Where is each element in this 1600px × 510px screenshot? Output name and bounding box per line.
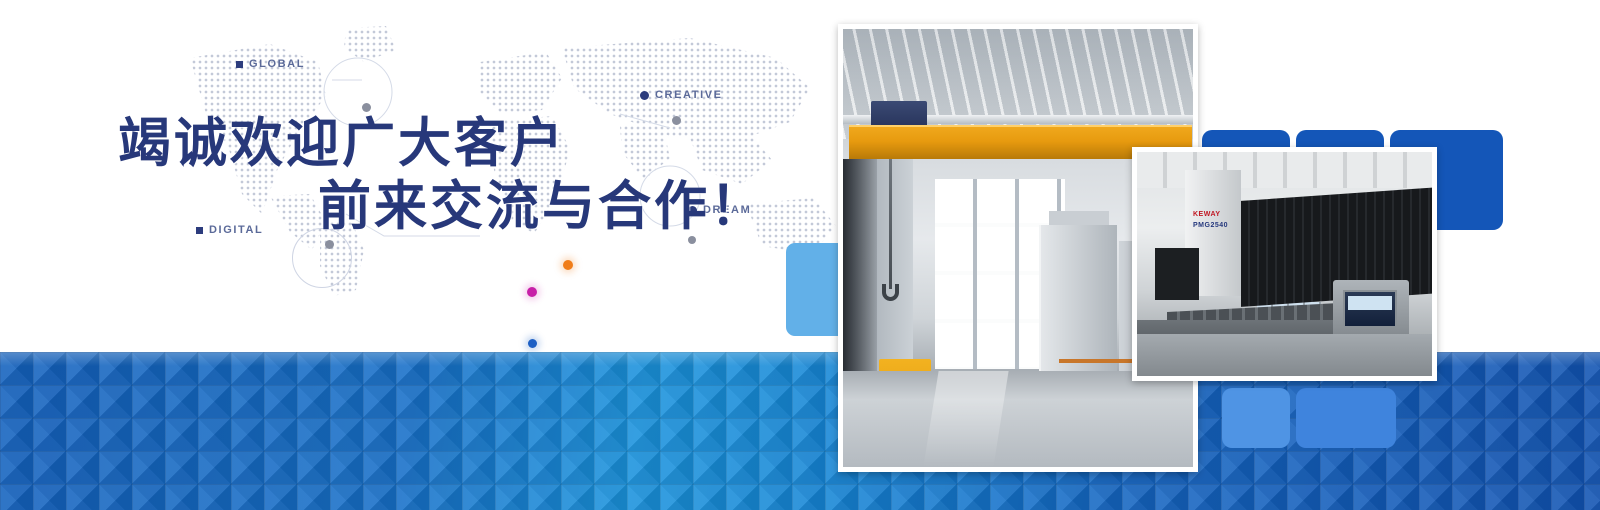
map-node-dot xyxy=(362,103,371,112)
banner-headline: 竭诚欢迎广大客户 前来交流与合作！ xyxy=(118,112,818,237)
promotional-banner: GLOBAL CREATIVE DIGITAL DREAM 竭诚欢迎广大客户 前… xyxy=(0,0,1600,510)
cnc-machine-photo-image: KEWAY PMG2540 xyxy=(1137,152,1432,376)
orange-accent-dot-icon xyxy=(563,260,573,270)
decorative-rounded-rect-band xyxy=(1296,388,1396,448)
magenta-accent-dot-icon xyxy=(527,287,537,297)
machine-brand-label: KEWAY PMG2540 xyxy=(1193,210,1228,231)
round-bullet-icon xyxy=(640,91,649,100)
headline-line-1: 竭诚欢迎广大客户 xyxy=(118,112,566,174)
map-label-creative: CREATIVE xyxy=(640,89,723,101)
headline-line-2: 前来交流与合作！ xyxy=(118,175,818,238)
cnc-machine-photo: KEWAY PMG2540 xyxy=(1132,147,1437,381)
decorative-rounded-rect-band xyxy=(1222,388,1290,448)
machine-model-name: PMG2540 xyxy=(1193,222,1228,229)
map-label-global: GLOBAL xyxy=(236,58,305,70)
machine-brand-name: KEWAY xyxy=(1193,211,1221,218)
map-label-text: GLOBAL xyxy=(249,58,305,70)
blue-accent-dot-icon xyxy=(528,339,537,348)
map-node-dot xyxy=(688,236,696,244)
map-label-text: CREATIVE xyxy=(655,89,723,101)
square-bullet-icon xyxy=(236,61,243,68)
